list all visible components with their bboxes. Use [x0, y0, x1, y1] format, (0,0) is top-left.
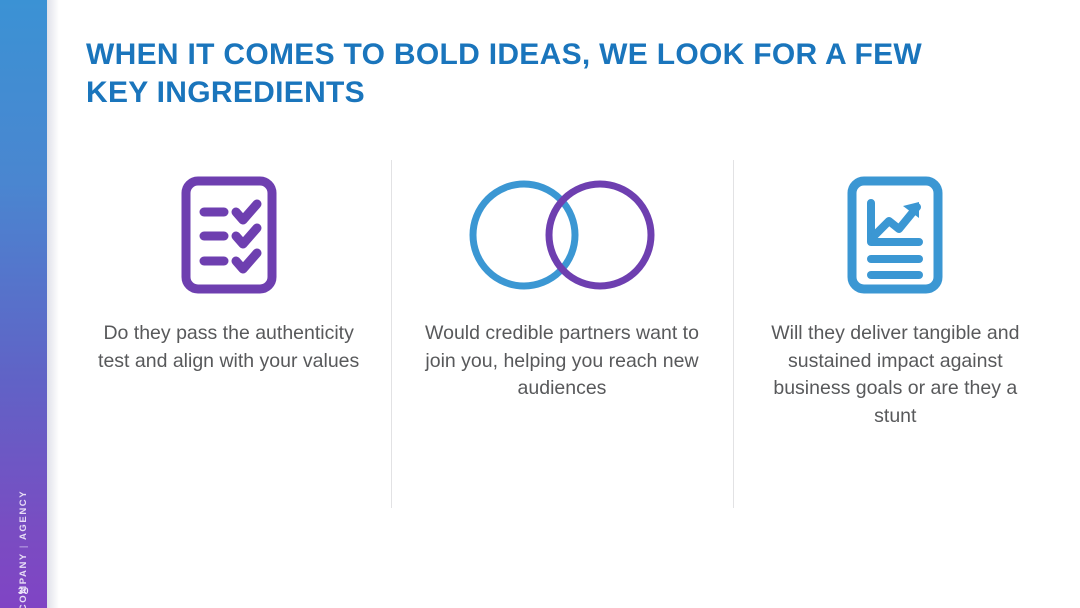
column-partners: Would credible partners want to join you… — [395, 160, 728, 510]
page-title: WHEN IT COMES TO BOLD IDEAS, WE LOOK FOR… — [86, 36, 986, 112]
report-chart-icon — [847, 160, 943, 310]
page-number: 30 — [0, 586, 47, 596]
rail-label-agency: AGENCY — [18, 490, 29, 540]
column-text-impact: Will they deliver tangible and sustained… — [751, 320, 1039, 430]
slide-canvas: COMPANY|AGENCY 30 WHEN IT COMES TO BOLD … — [0, 0, 1080, 608]
rail-label-separator: | — [18, 540, 29, 552]
side-rail-shadow — [47, 0, 59, 608]
column-text-partners: Would credible partners want to join you… — [422, 320, 702, 403]
content-columns: Do they pass the authenticity test and a… — [62, 160, 1062, 510]
checklist-icon — [181, 160, 277, 310]
column-authenticity: Do they pass the authenticity test and a… — [62, 160, 395, 510]
venn-diagram-icon — [467, 160, 657, 310]
rail-label-company: COMPANY — [18, 552, 29, 608]
rail-branding-label: COMPANY|AGENCY — [0, 346, 47, 556]
column-impact: Will they deliver tangible and sustained… — [729, 160, 1062, 510]
column-text-authenticity: Do they pass the authenticity test and a… — [89, 320, 369, 375]
